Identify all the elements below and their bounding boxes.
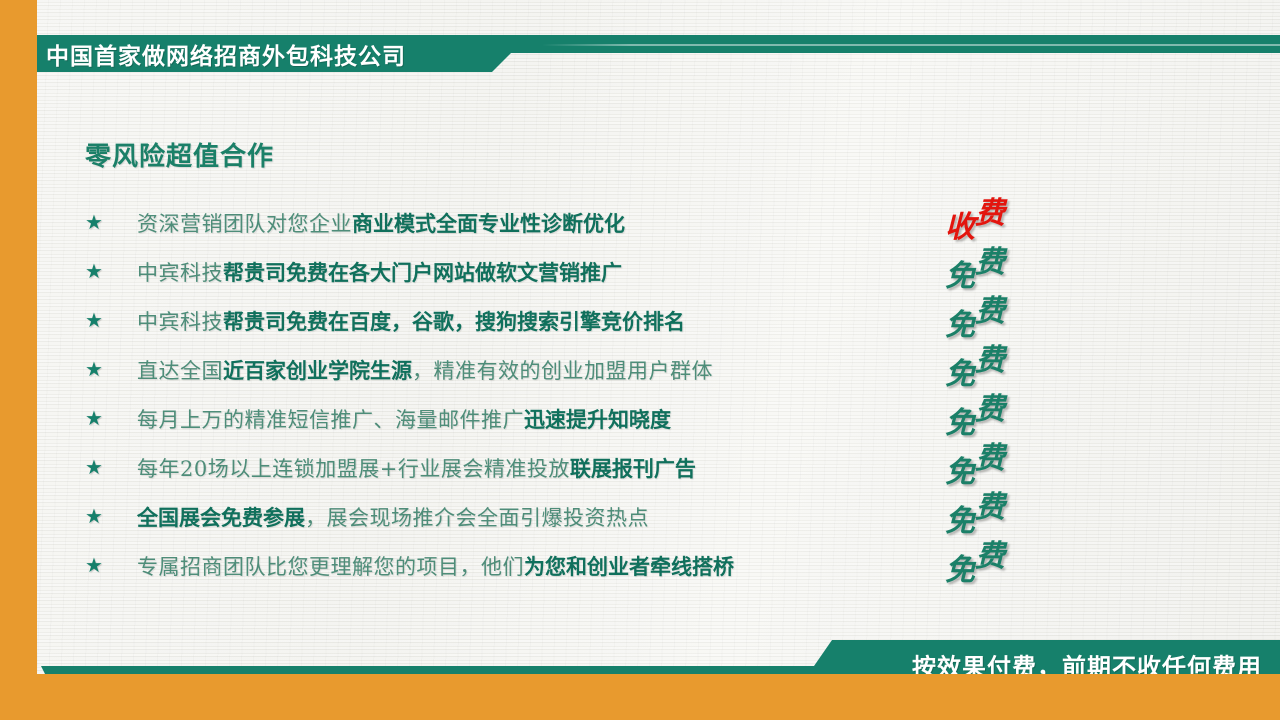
benefit-text-emphasis: 商业模式全面专业性诊断优化 bbox=[352, 212, 625, 236]
benefit-text: 中宾科技帮贵司免费在百度，谷歌，搜狗搜索引擎竞价排名 bbox=[137, 306, 685, 336]
benefit-text-plain: 每年20场以上连锁加盟展+行业展会精准投放 bbox=[137, 457, 570, 481]
price-badge-char: 免 bbox=[945, 545, 974, 589]
benefit-text-emphasis: 联展报刊广告 bbox=[570, 457, 696, 481]
header-banner: 中国首家做网络招商外包科技公司 bbox=[37, 35, 1280, 72]
price-badge: 免费 bbox=[945, 239, 1095, 288]
price-badge: 收费 bbox=[945, 190, 1095, 239]
price-badge: 免费 bbox=[945, 533, 1095, 582]
star-icon: ★ bbox=[85, 507, 107, 527]
benefit-text-plain: 资深营销团队对您企业 bbox=[137, 212, 352, 236]
price-badge-char: 费 bbox=[975, 335, 1004, 379]
slide-root: 中国首家做网络招商外包科技公司 零风险超值合作 ★资深营销团队对您企业商业模式全… bbox=[0, 0, 1280, 720]
benefit-text-emphasis: 迅速提升知晓度 bbox=[524, 408, 671, 432]
benefit-row: ★中宾科技帮贵司免费在百度，谷歌，搜狗搜索引擎竞价排名 bbox=[85, 296, 1085, 345]
star-icon: ★ bbox=[85, 409, 107, 429]
benefit-text: 资深营销团队对您企业商业模式全面专业性诊断优化 bbox=[137, 208, 625, 238]
price-badge-char: 费 bbox=[975, 188, 1004, 232]
benefit-text-plain: 专属招商团队比您更理解您的项目，他们 bbox=[137, 555, 524, 579]
benefit-text-plain: ，展会现场推介会全面引爆投资热点 bbox=[305, 506, 649, 530]
star-icon: ★ bbox=[85, 213, 107, 233]
benefit-text-emphasis: 全国展会免费参展 bbox=[137, 506, 305, 530]
benefit-text: 全国展会免费参展，展会现场推介会全面引爆投资热点 bbox=[137, 502, 649, 532]
price-badge-char: 费 bbox=[975, 286, 1004, 330]
benefit-row: ★全国展会免费参展，展会现场推介会全面引爆投资热点 bbox=[85, 492, 1085, 541]
benefit-text-plain: 中宾科技 bbox=[137, 310, 223, 334]
price-badge: 免费 bbox=[945, 435, 1095, 484]
benefit-text-plain: 每月上万的精准短信推广、海量邮件推广 bbox=[137, 408, 524, 432]
bottom-orange-strip bbox=[37, 674, 1280, 720]
benefit-row: ★直达全国近百家创业学院生源，精准有效的创业加盟用户群体 bbox=[85, 345, 1085, 394]
benefit-row: ★资深营销团队对您企业商业模式全面专业性诊断优化 bbox=[85, 198, 1085, 247]
benefit-text-emphasis: 帮贵司免费在百度，谷歌，搜狗搜索引擎竞价排名 bbox=[223, 310, 685, 334]
benefit-row: ★每年20场以上连锁加盟展+行业展会精准投放联展报刊广告 bbox=[85, 443, 1085, 492]
benefit-text-plain: 直达全国 bbox=[137, 359, 223, 383]
star-icon: ★ bbox=[85, 262, 107, 282]
star-icon: ★ bbox=[85, 556, 107, 576]
benefit-text-emphasis: 近百家创业学院生源 bbox=[223, 359, 412, 383]
price-badge: 免费 bbox=[945, 288, 1095, 337]
price-badge: 免费 bbox=[945, 386, 1095, 435]
benefit-text: 每年20场以上连锁加盟展+行业展会精准投放联展报刊广告 bbox=[137, 453, 696, 483]
price-badge-char: 费 bbox=[975, 482, 1004, 526]
benefit-text-plain: 中宾科技 bbox=[137, 261, 223, 285]
price-badge-char: 费 bbox=[975, 384, 1004, 428]
benefit-list: ★资深营销团队对您企业商业模式全面专业性诊断优化★中宾科技帮贵司免费在各大门户网… bbox=[85, 198, 1085, 590]
star-icon: ★ bbox=[85, 360, 107, 380]
price-badge-char: 费 bbox=[975, 531, 1004, 575]
price-badge-char: 费 bbox=[975, 237, 1004, 281]
price-column: 收费免费免费免费免费免费免费免费 bbox=[945, 190, 1095, 582]
benefit-text: 每月上万的精准短信推广、海量邮件推广迅速提升知晓度 bbox=[137, 404, 671, 434]
benefit-row: ★专属招商团队比您更理解您的项目，他们为您和创业者牵线搭桥 bbox=[85, 541, 1085, 590]
star-icon: ★ bbox=[85, 458, 107, 478]
benefit-text-emphasis: 帮贵司免费在各大门户网站做软文营销推广 bbox=[223, 261, 622, 285]
header-hairline bbox=[542, 44, 1280, 46]
section-title: 零风险超值合作 bbox=[85, 136, 274, 173]
price-badge: 免费 bbox=[945, 337, 1095, 386]
price-badge-char: 费 bbox=[975, 433, 1004, 477]
benefit-text: 中宾科技帮贵司免费在各大门户网站做软文营销推广 bbox=[137, 257, 622, 287]
benefit-text: 直达全国近百家创业学院生源，精准有效的创业加盟用户群体 bbox=[137, 355, 713, 385]
benefit-row: ★中宾科技帮贵司免费在各大门户网站做软文营销推广 bbox=[85, 247, 1085, 296]
benefit-text-plain: ，精准有效的创业加盟用户群体 bbox=[412, 359, 713, 383]
header-title: 中国首家做网络招商外包科技公司 bbox=[46, 37, 406, 71]
benefit-row: ★每月上万的精准短信推广、海量邮件推广迅速提升知晓度 bbox=[85, 394, 1085, 443]
price-badge: 免费 bbox=[945, 484, 1095, 533]
benefit-text: 专属招商团队比您更理解您的项目，他们为您和创业者牵线搭桥 bbox=[137, 551, 734, 581]
benefit-text-emphasis: 为您和创业者牵线搭桥 bbox=[524, 555, 734, 579]
star-icon: ★ bbox=[85, 311, 107, 331]
